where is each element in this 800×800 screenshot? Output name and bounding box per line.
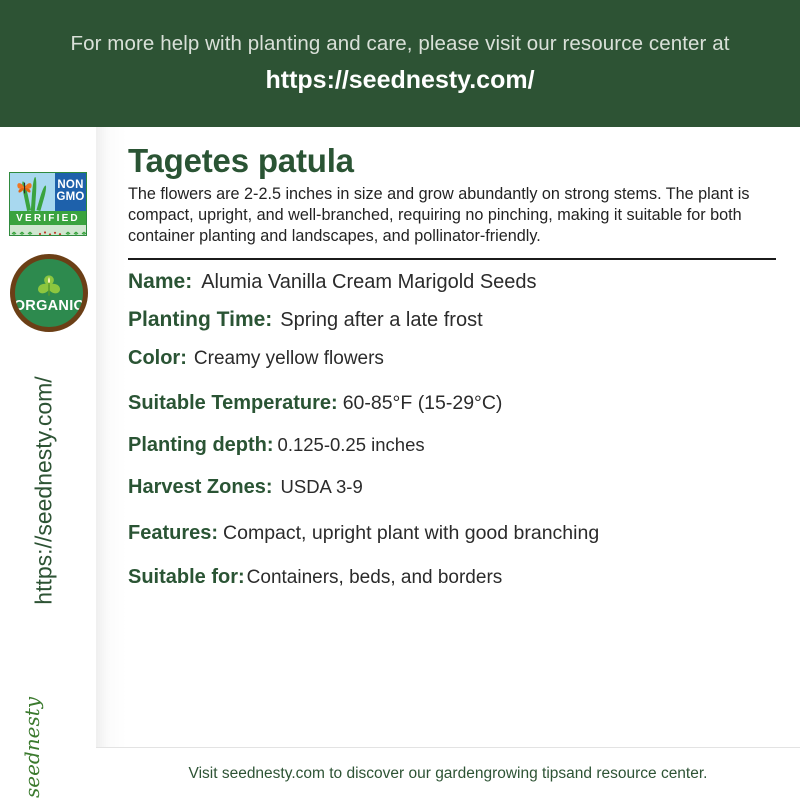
organic-label: ORGANIC — [14, 298, 85, 314]
footer-text: Visit seednesty.com to discover our gard… — [189, 765, 708, 783]
sprout-row-icon — [10, 228, 86, 235]
seed-packet-label: For more help with planting and care, pl… — [0, 0, 800, 800]
detail-label: Planting depth: — [128, 434, 274, 457]
non-gmo-line2: GMO — [56, 192, 84, 204]
detail-row: Color: Creamy yellow flowers — [128, 347, 770, 370]
detail-label: Planting Time: — [128, 308, 272, 332]
detail-value: 60-85°F (15-29°C) — [343, 392, 503, 415]
non-gmo-text-panel: NON GMO — [55, 173, 86, 211]
header-help-text: For more help with planting and care, pl… — [50, 32, 749, 57]
leaf-emblem-icon — [36, 275, 62, 297]
detail-label: Name: — [128, 270, 192, 294]
detail-value: 0.125-0.25 inches — [278, 434, 425, 456]
detail-row: Name: Alumia Vanilla Cream Marigold Seed… — [128, 270, 770, 294]
detail-label: Features: — [128, 522, 218, 545]
butterfly-scene — [10, 173, 55, 211]
detail-row: Planting Time: Spring after a late frost — [128, 308, 770, 332]
header-website-url[interactable]: https://seednesty.com/ — [265, 65, 534, 95]
detail-label: Harvest Zones: — [128, 476, 273, 499]
divider — [128, 258, 776, 260]
non-gmo-verified-badge: NON GMO VERIFIED — [9, 172, 87, 236]
butterfly-icon — [16, 180, 33, 196]
footer-bar: Visit seednesty.com to discover our gard… — [96, 747, 800, 800]
brand-name: seednesty — [20, 697, 44, 798]
grass-blade-icon — [36, 185, 47, 211]
detail-row: Features: Compact, upright plant with go… — [128, 522, 770, 545]
detail-row: Harvest Zones: USDA 3-9 — [128, 476, 770, 499]
brand-logo: seednesty — [4, 782, 94, 800]
organic-badge: ORGANIC — [10, 254, 88, 332]
description-text: The flowers are 2-2.5 inches in size and… — [128, 184, 768, 247]
detail-value: Containers, beds, and borders — [247, 567, 503, 589]
detail-value: USDA 3-9 — [281, 476, 363, 498]
detail-label: Suitable Temperature: — [128, 392, 338, 415]
detail-value: Spring after a late frost — [280, 309, 482, 332]
detail-value: Alumia Vanilla Cream Marigold Seeds — [201, 271, 536, 294]
verified-bar: VERIFIED — [10, 211, 86, 225]
non-gmo-badge-top: NON GMO — [10, 173, 86, 211]
sidebar-vertical-url[interactable]: https://seednesty.com/ — [31, 361, 58, 621]
detail-value: Creamy yellow flowers — [194, 348, 384, 370]
sidebar: NON GMO VERIFIED — [0, 127, 96, 800]
detail-list: Name: Alumia Vanilla Cream Marigold Seed… — [128, 270, 770, 589]
detail-row: Suitable for: Containers, beds, and bord… — [128, 566, 770, 589]
detail-value: Compact, upright plant with good branchi… — [223, 522, 599, 545]
detail-row: Suitable Temperature: 60-85°F (15-29°C) — [128, 392, 770, 415]
page-title: Tagetes patula — [128, 143, 770, 179]
detail-label: Color: — [128, 347, 187, 370]
soil-strip — [10, 225, 86, 235]
detail-row: Planting depth: 0.125-0.25 inches — [128, 434, 770, 457]
header-banner: For more help with planting and care, pl… — [0, 0, 800, 127]
main-card: Tagetes patula The flowers are 2-2.5 inc… — [96, 127, 800, 747]
detail-label: Suitable for: — [128, 566, 245, 589]
